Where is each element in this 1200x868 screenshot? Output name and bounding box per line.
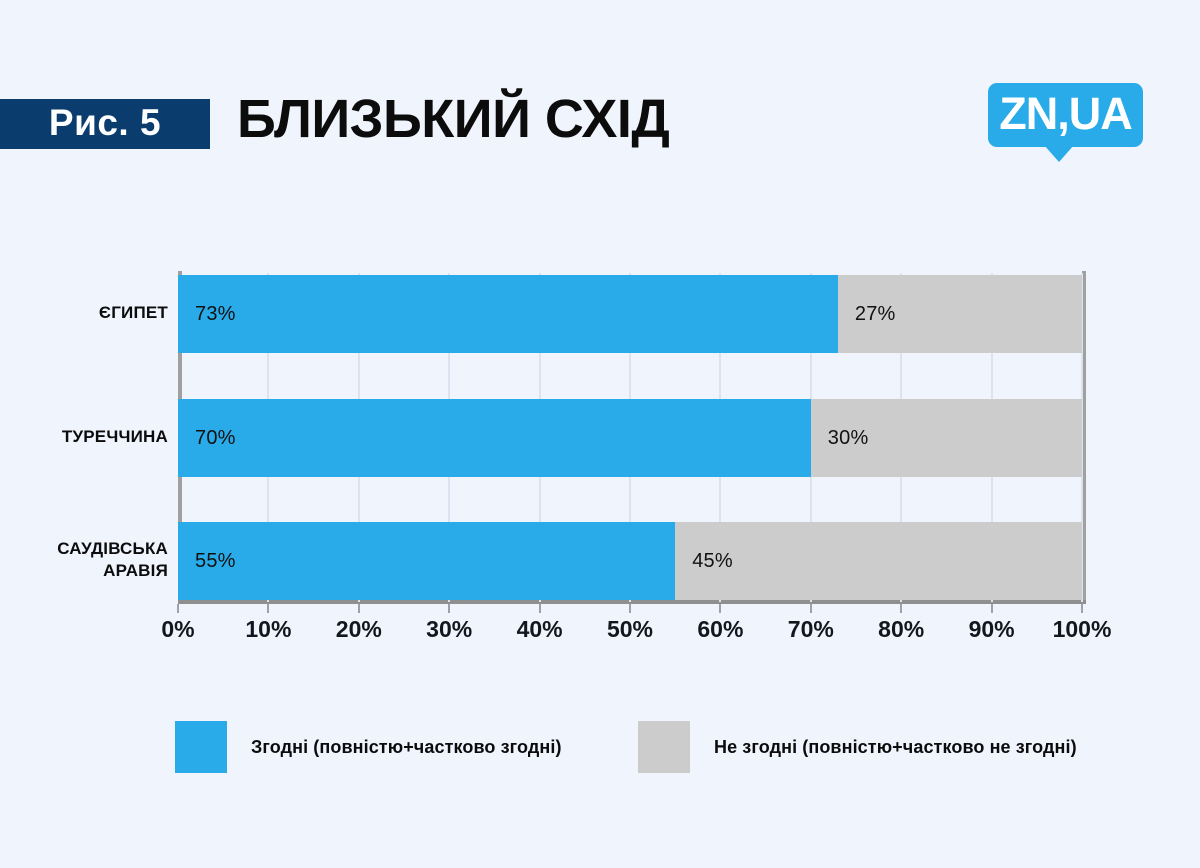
legend-label: Згодні (повністю+частково згодні) bbox=[251, 737, 562, 758]
category-label-2: ТУРЕЧЧИНА bbox=[10, 426, 168, 448]
x-tick-label: 100% bbox=[1053, 616, 1112, 643]
bar-segment-agree: 73% bbox=[178, 275, 838, 353]
bar-value-label: 30% bbox=[828, 427, 869, 450]
x-tick-mark bbox=[1081, 604, 1083, 613]
bar-row: 55%45% bbox=[178, 522, 1082, 600]
bar-value-label: 73% bbox=[195, 303, 236, 326]
bar-row: 73%27% bbox=[178, 275, 1082, 353]
bar-value-label: 55% bbox=[195, 550, 236, 573]
bar-segment-disagree: 30% bbox=[811, 399, 1082, 477]
legend-item[interactable]: Згодні (повністю+частково згодні) bbox=[175, 718, 562, 776]
x-tick-mark bbox=[177, 604, 179, 613]
x-tick-label: 50% bbox=[607, 616, 653, 643]
bar-value-label: 70% bbox=[195, 427, 236, 450]
x-tick-mark bbox=[629, 604, 631, 613]
x-tick-label: 10% bbox=[245, 616, 291, 643]
bar-segment-agree: 55% bbox=[178, 522, 675, 600]
x-tick-mark bbox=[539, 604, 541, 613]
x-tick-mark bbox=[900, 604, 902, 613]
legend-item[interactable]: Не згодні (повністю+частково не згодні) bbox=[638, 718, 1077, 776]
x-tick-mark bbox=[267, 604, 269, 613]
bar-value-label: 45% bbox=[692, 550, 733, 573]
legend-swatch bbox=[175, 721, 227, 773]
bar-row: 70%30% bbox=[178, 399, 1082, 477]
category-axis-labels: ЄГИПЕТТУРЕЧЧИНАСАУДІВСЬКААРАВІЯ bbox=[10, 272, 168, 602]
x-tick-mark bbox=[358, 604, 360, 613]
chart-figure: ЄГИПЕТТУРЕЧЧИНАСАУДІВСЬКААРАВІЯ 73%27%70… bbox=[0, 0, 1200, 868]
bar-segment-agree: 70% bbox=[178, 399, 811, 477]
x-tick-label: 80% bbox=[878, 616, 924, 643]
bar-segment-disagree: 27% bbox=[838, 275, 1082, 353]
category-label-3: САУДІВСЬКААРАВІЯ bbox=[10, 538, 168, 582]
x-tick-label: 60% bbox=[697, 616, 743, 643]
bar-value-label: 27% bbox=[855, 303, 896, 326]
x-tick-mark bbox=[719, 604, 721, 613]
x-axis: 0%10%20%30%40%50%60%70%80%90%100% bbox=[178, 604, 1082, 650]
plot-area: 73%27%70%30%55%45% bbox=[178, 273, 1082, 602]
legend-label: Не згодні (повністю+частково не згодні) bbox=[714, 737, 1077, 758]
category-label-1: ЄГИПЕТ bbox=[10, 302, 168, 324]
x-tick-label: 30% bbox=[426, 616, 472, 643]
x-tick-mark bbox=[810, 604, 812, 613]
bar-segment-disagree: 45% bbox=[675, 522, 1082, 600]
x-tick-mark bbox=[991, 604, 993, 613]
chart-legend: Згодні (повністю+частково згодні)Не згод… bbox=[0, 718, 1200, 778]
legend-swatch bbox=[638, 721, 690, 773]
x-tick-mark bbox=[448, 604, 450, 613]
x-tick-label: 40% bbox=[517, 616, 563, 643]
x-tick-label: 0% bbox=[161, 616, 194, 643]
x-tick-label: 70% bbox=[788, 616, 834, 643]
x-tick-label: 20% bbox=[336, 616, 382, 643]
x-tick-label: 90% bbox=[969, 616, 1015, 643]
